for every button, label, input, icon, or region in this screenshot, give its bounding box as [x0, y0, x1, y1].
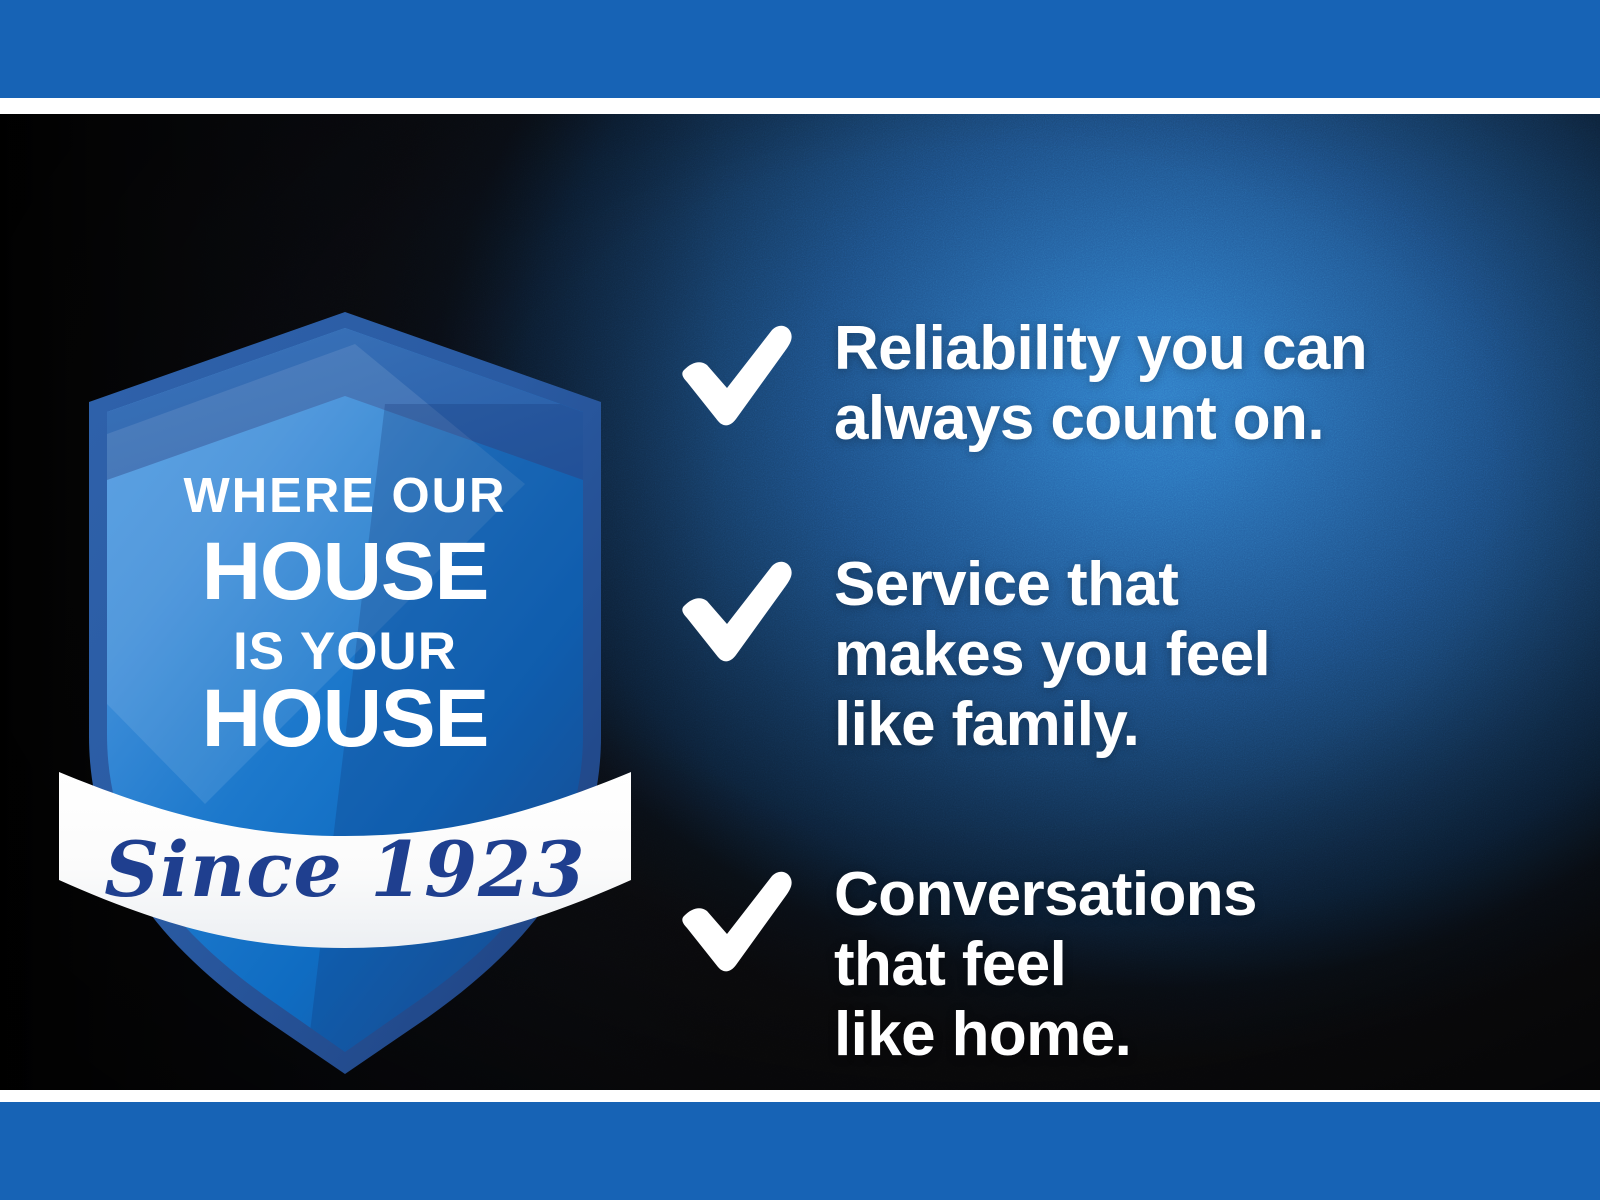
benefit-text: Reliability you can always count on. [834, 314, 1367, 454]
shield-line-1: WHERE OUR [184, 469, 507, 523]
shield-line-2: HOUSE [202, 526, 489, 617]
top-brand-bar [0, 0, 1600, 98]
benefit-item: Service that makes you feel like family. [676, 550, 1516, 760]
benefits-list: Reliability you can always count on. Ser… [676, 314, 1516, 1070]
benefit-line: Conversations [834, 860, 1257, 930]
benefit-item: Conversations that feel like home. [676, 860, 1516, 1070]
benefit-line: makes you feel [834, 620, 1270, 690]
checkmark-icon [676, 864, 794, 982]
benefit-line: Service that [834, 550, 1270, 620]
checkmark-icon [676, 318, 794, 436]
benefit-line: Reliability you can [834, 314, 1367, 384]
poster-stage: WHERE OUR HOUSE IS YOUR HOUSE Since 1923… [0, 114, 1600, 1090]
shield-line-4: HOUSE [202, 673, 489, 764]
bottom-brand-bar [0, 1102, 1600, 1200]
shield-badge: WHERE OUR HOUSE IS YOUR HOUSE Since 1923 [55, 284, 635, 1074]
promo-poster: WHERE OUR HOUSE IS YOUR HOUSE Since 1923… [0, 0, 1600, 1200]
benefit-line: always count on. [834, 384, 1367, 454]
benefit-line: that feel [834, 930, 1257, 1000]
checkmark-icon [676, 554, 794, 672]
benefit-item: Reliability you can always count on. [676, 314, 1516, 454]
benefit-text: Conversations that feel like home. [834, 860, 1257, 1070]
benefit-text: Service that makes you feel like family. [834, 550, 1270, 760]
since-banner-text: Since 1923 [104, 825, 586, 914]
benefit-line: like family. [834, 690, 1270, 760]
benefit-line: like home. [834, 1000, 1257, 1070]
